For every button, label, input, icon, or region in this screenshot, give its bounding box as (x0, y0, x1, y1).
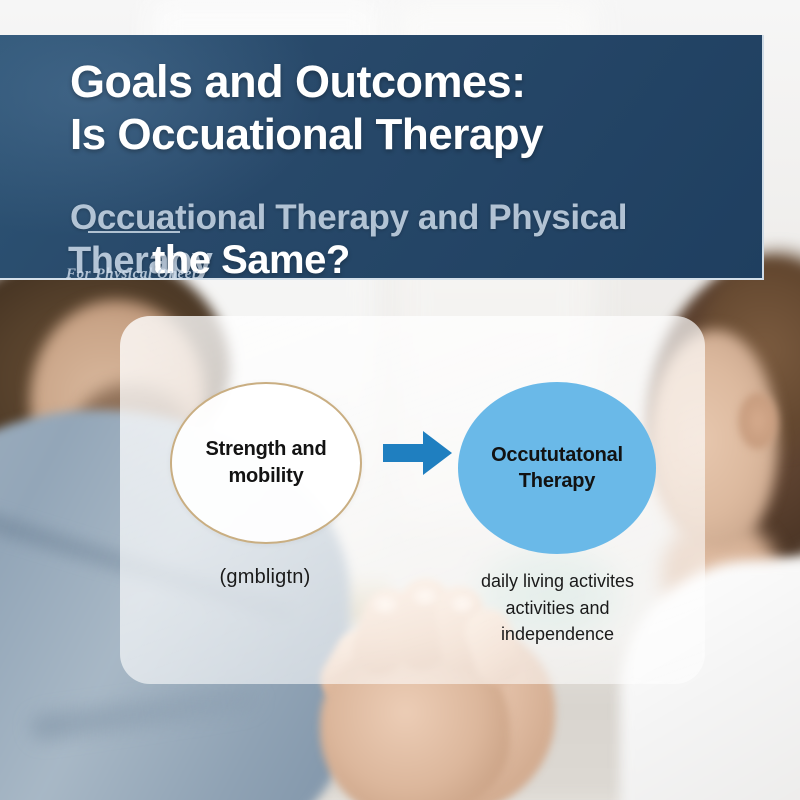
diagram-right-circle-label: Occututatonal Therapy (491, 442, 623, 495)
photo-woman-ear (738, 392, 778, 450)
diagram-right-caption: daily living activites activities and in… (450, 568, 665, 648)
diagram-right-circle-label-line-2: Therapy (519, 470, 595, 492)
banner-title-line-2: Is Occuational Therapy (70, 113, 740, 157)
diagram-left-caption: (gmbligtn) (170, 566, 360, 589)
diagram-right-circle: Occututatonal Therapy (458, 382, 656, 554)
banner-ghost-underline (88, 231, 180, 233)
banner-ghost-script-text: For Physical Oneer (66, 266, 198, 280)
diagram-left-circle-label: Strength and mobility (206, 436, 327, 489)
screenshot-canvas: Goals and Outcomes: Is Occuational Thera… (0, 0, 800, 800)
diagram-left-circle-label-line-1: Strength and (206, 438, 327, 460)
banner-title-line-1: Goals and Outcomes: (70, 59, 740, 104)
diagram-left-circle: Strength and mobility (170, 382, 362, 544)
diagram-arrow-right-icon (383, 430, 453, 476)
diagram-right-circle-label-line-1: Occututatonal (491, 444, 623, 466)
diagram-right-caption-line-3: independence (450, 621, 665, 648)
banner-title-stack: Goals and Outcomes: Is Occuational Thera… (70, 59, 740, 157)
title-banner: Goals and Outcomes: Is Occuational Thera… (0, 35, 764, 280)
diagram-left-circle-label-line-2: mobility (228, 465, 303, 487)
diagram-right-caption-line-2: activities and (450, 595, 665, 622)
diagram-right-caption-line-1: daily living activites (450, 568, 665, 595)
